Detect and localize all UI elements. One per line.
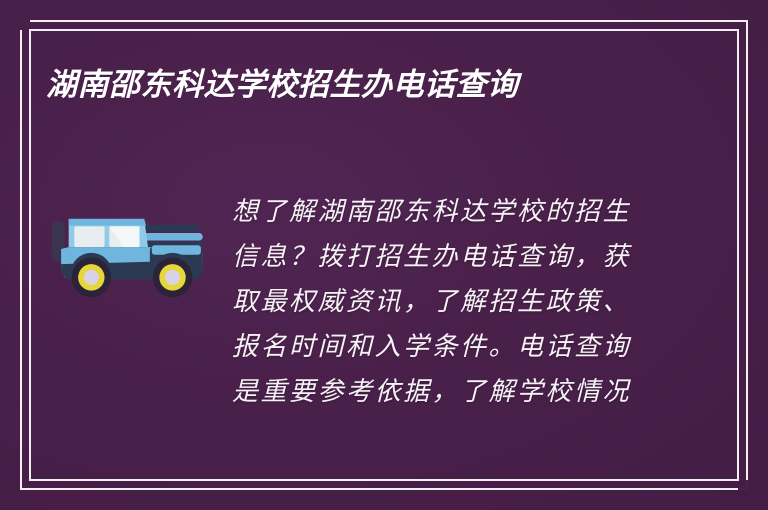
content-row: 想了解湖南邵东科达学校的招生 信息？拨打招生办电话查询，获 取最权威资讯，了解招…	[46, 190, 722, 415]
body-paragraph: 想了解湖南邵东科达学校的招生 信息？拨打招生办电话查询，获 取最权威资讯，了解招…	[226, 190, 722, 415]
frame-notch-top-left-horizontal	[20, 20, 30, 23]
frame-notch-bottom-right-horizontal	[738, 487, 748, 490]
blue-jeep-illustration	[46, 190, 226, 306]
body-line: 是重要参考依据，了解学校情况	[232, 370, 722, 415]
body-line: 想了解湖南邵东科达学校的招生	[232, 190, 722, 235]
body-line: 报名时间和入学条件。电话查询	[232, 325, 722, 370]
body-line: 取最权威资讯，了解招生政策、	[232, 280, 722, 325]
frame-notch-bottom-right-vertical	[745, 480, 748, 490]
frame-notch-top-left-vertical	[20, 20, 23, 30]
body-line: 信息？拨打招生办电话查询，获	[232, 235, 722, 280]
poster-canvas: 湖南邵东科达学校招生办电话查询	[0, 0, 768, 510]
jeep-icon	[46, 198, 216, 302]
page-title: 湖南邵东科达学校招生办电话查询	[46, 62, 646, 109]
title-block: 湖南邵东科达学校招生办电话查询	[46, 62, 646, 109]
